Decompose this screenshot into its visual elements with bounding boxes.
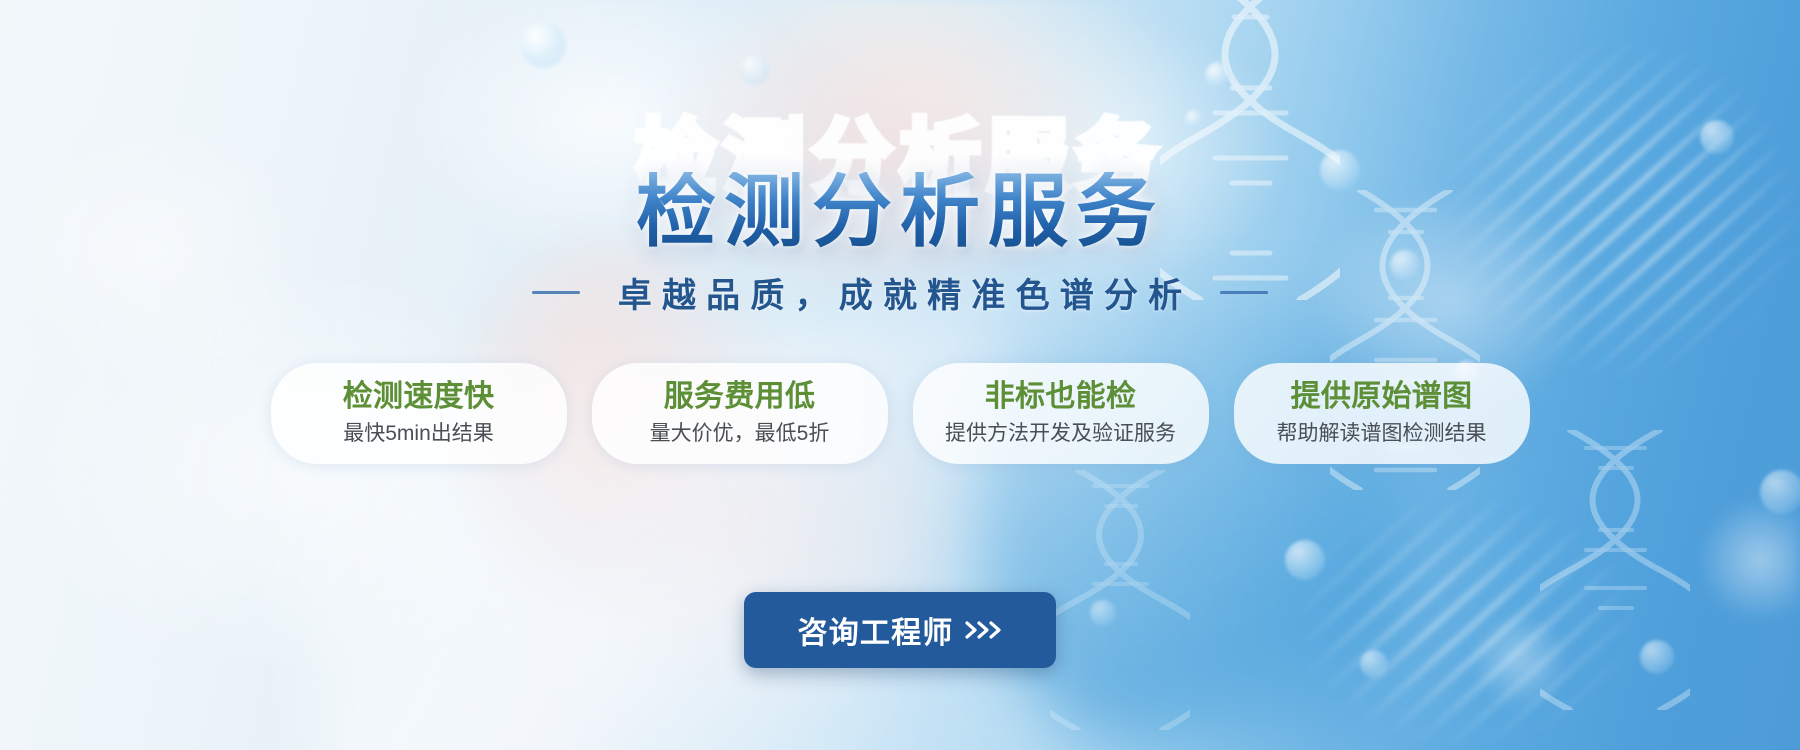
feature-pill-title: 检测速度快 <box>301 379 537 416</box>
feature-pill-title: 非标也能检 <box>943 379 1179 416</box>
feature-pill-desc: 提供方法开发及验证服务 <box>943 421 1179 446</box>
feature-pill-title: 服务费用低 <box>622 379 858 416</box>
dash-left-icon <box>532 291 580 294</box>
feature-pill-spectra[interactable]: 提供原始谱图 帮助解读谱图检测结果 <box>1234 363 1530 464</box>
feature-pill-speed[interactable]: 检测速度快 最快5min出结果 <box>271 363 567 464</box>
page-title: 检测分析服务 <box>0 172 1800 252</box>
consult-engineer-button[interactable]: 咨询工程师 <box>744 592 1056 668</box>
page-subtitle: 卓越品质，成就精准色谱分析 <box>608 268 1193 317</box>
feature-pill-nonstandard[interactable]: 非标也能检 提供方法开发及验证服务 <box>913 363 1209 464</box>
feature-pill-list: 检测速度快 最快5min出结果 服务费用低 量大价优，最低5折 非标也能检 提供… <box>0 363 1800 464</box>
consult-engineer-label: 咨询工程师 <box>798 608 954 652</box>
promo-banner: 检测分析服务 检测分析服务 卓越品质，成就精准色谱分析 检测速度快 最快5min… <box>0 0 1800 750</box>
dash-right-icon <box>1220 291 1268 294</box>
subtitle-row: 卓越品质，成就精准色谱分析 <box>0 268 1800 317</box>
banner-content: 检测分析服务 检测分析服务 卓越品质，成就精准色谱分析 检测速度快 最快5min… <box>0 0 1800 750</box>
feature-pill-price[interactable]: 服务费用低 量大价优，最低5折 <box>592 363 888 464</box>
feature-pill-desc: 帮助解读谱图检测结果 <box>1264 421 1500 446</box>
feature-pill-desc: 最快5min出结果 <box>301 421 537 446</box>
chevron-right-triple-icon <box>968 619 1003 641</box>
feature-pill-title: 提供原始谱图 <box>1264 379 1500 416</box>
feature-pill-desc: 量大价优，最低5折 <box>622 421 858 446</box>
